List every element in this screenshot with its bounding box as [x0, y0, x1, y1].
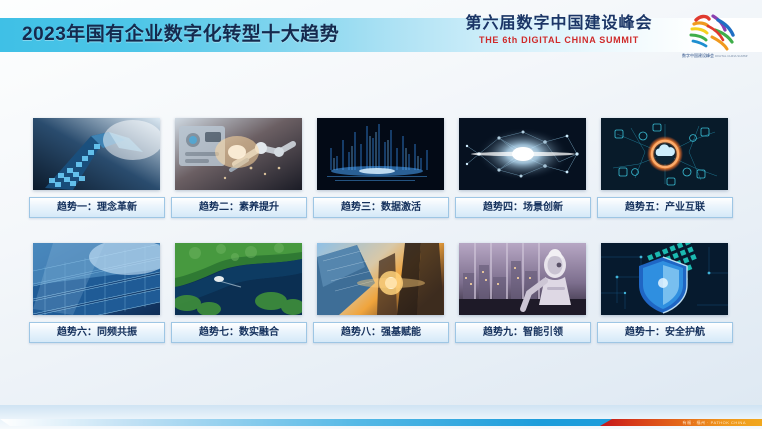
trend-card-1[interactable]: 趋势一：理念革新: [33, 118, 160, 218]
blue-data-streams-image: [317, 118, 444, 190]
trends-grid: 趋势一：理念革新: [33, 118, 731, 343]
trend-label-10: 趋势十：安全护航: [597, 322, 733, 343]
trend-card-5[interactable]: 趋势五：产业互联: [601, 118, 728, 218]
trend-label-4: 趋势四：场景创新: [455, 197, 591, 218]
trend-card-6[interactable]: 趋势六：同频共振: [33, 243, 160, 343]
slide-header: 2023年国有企业数字化转型十大趋势 第六届数字中国建设峰会 THE 6th D…: [0, 0, 762, 62]
humanoid-robot-city-image: [459, 243, 586, 315]
glowing-network-burst-image: [459, 118, 586, 190]
forest-river-aerial-image: [175, 243, 302, 315]
trend-card-2[interactable]: 趋势二：素养提升: [175, 118, 302, 218]
trend-card-3[interactable]: 趋势三：数据激活: [317, 118, 444, 218]
page-title: 2023年国有企业数字化转型十大趋势: [22, 20, 339, 50]
trends-row-2: 趋势六：同频共振: [33, 243, 731, 343]
trend-label-1: 趋势一：理念革新: [29, 197, 165, 218]
trend-card-10[interactable]: 趋势十：安全护航: [601, 243, 728, 343]
robotic-hand-dashboard-image: [175, 118, 302, 190]
blue-keyboard-tower-image: [33, 118, 160, 190]
cyber-security-shield-image: [601, 243, 728, 315]
slide-footer: 有福 · 福州 · PATHOK CHINA: [0, 405, 762, 429]
logo-caption-en: DIGITAL CHINA SUMMIT: [715, 54, 748, 58]
trend-card-8[interactable]: 趋势八：强基赋能: [317, 243, 444, 343]
trend-label-6: 趋势六：同频共振: [29, 322, 165, 343]
trend-label-5: 趋势五：产业互联: [597, 197, 733, 218]
logo-caption-cn: 数字中国建设峰会: [682, 53, 714, 58]
trend-label-7: 趋势七：数实融合: [171, 322, 307, 343]
summit-title-cn: 第六届数字中国建设峰会: [444, 14, 674, 34]
footer-caption: 有福 · 福州 · PATHOK CHINA: [682, 419, 746, 426]
trend-label-8: 趋势八：强基赋能: [313, 322, 449, 343]
industrial-iot-cloud-image: [601, 118, 728, 190]
summit-logo-caption: 数字中国建设峰会 DIGITAL CHINA SUMMIT: [682, 53, 748, 59]
trend-label-3: 趋势三：数据激活: [313, 197, 449, 218]
summit-logo: 数字中国建设峰会 DIGITAL CHINA SUMMIT: [682, 10, 748, 58]
footer-blue-stripe: [0, 419, 612, 426]
trend-label-2: 趋势二：素养提升: [171, 197, 307, 218]
trend-card-4[interactable]: 趋势四：场景创新: [459, 118, 586, 218]
trend-card-9[interactable]: 趋势九：智能引领: [459, 243, 586, 343]
summit-lockup: 第六届数字中国建设峰会 THE 6th DIGITAL CHINA SUMMIT: [444, 14, 674, 46]
trend-card-7[interactable]: 趋势七：数实融合: [175, 243, 302, 343]
summit-title-en: THE 6th DIGITAL CHINA SUMMIT: [444, 34, 674, 46]
skyscraper-sunset-image: [317, 243, 444, 315]
trends-row-1: 趋势一：理念革新: [33, 118, 731, 218]
trend-label-9: 趋势九：智能引领: [455, 322, 591, 343]
solar-panel-array-image: [33, 243, 160, 315]
